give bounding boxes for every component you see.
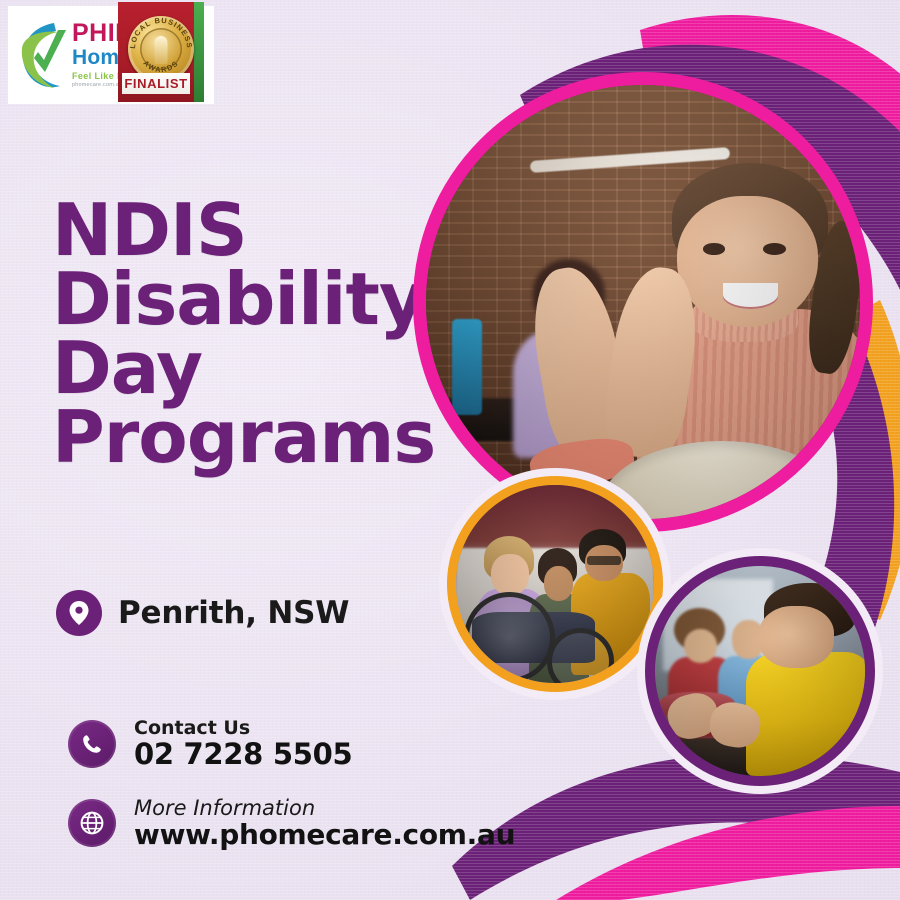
contact-website-url[interactable]: www.phomecare.com.au (134, 820, 515, 850)
map-pin-icon (56, 590, 102, 636)
award-badge: LOCAL BUSINESS AWARDS FINALIST (118, 2, 204, 102)
photo-wheelchair-wheel (464, 592, 555, 683)
award-finalist-label: FINALIST (124, 76, 187, 91)
logo-swoosh-icon (14, 18, 70, 92)
photo-water-bottle (452, 319, 482, 414)
contact-website-label: More Information (134, 797, 515, 820)
promotional-poster: PHILIPS Homecare Feel Like Home phomecar… (0, 0, 900, 900)
contact-website-row[interactable]: More Information www.phomecare.com.au (68, 797, 515, 850)
arc-bottom-magenta (556, 806, 900, 900)
page-title: NDIS Disability Day Programs (52, 196, 452, 472)
main-photo (413, 72, 873, 532)
headline-line-3: Day (52, 334, 452, 403)
headline-line-4: Programs (52, 403, 452, 472)
award-finalist-banner: FINALIST (122, 73, 190, 94)
headline-line-1: NDIS (52, 196, 452, 265)
headline-line-2: Disability (52, 265, 452, 334)
location-label: Penrith, NSW (118, 595, 349, 631)
svg-text:LOCAL BUSINESS: LOCAL BUSINESS (128, 16, 194, 49)
photo-clapping-hands (539, 267, 713, 458)
contact-phone-label: Contact Us (134, 718, 352, 739)
contact-phone-number[interactable]: 02 7228 5505 (134, 739, 352, 770)
photo-wheelchair-wheel-rear (547, 628, 614, 692)
globe-icon (68, 799, 116, 847)
small-photo (645, 556, 875, 786)
contact-phone-row[interactable]: Contact Us 02 7228 5505 (68, 718, 352, 770)
location-row: Penrith, NSW (56, 590, 349, 636)
mid-photo (447, 476, 663, 692)
photo-working-hands (668, 688, 765, 751)
svg-text:AWARDS: AWARDS (142, 58, 181, 74)
phone-icon (68, 720, 116, 768)
award-green-stripe (194, 2, 204, 102)
